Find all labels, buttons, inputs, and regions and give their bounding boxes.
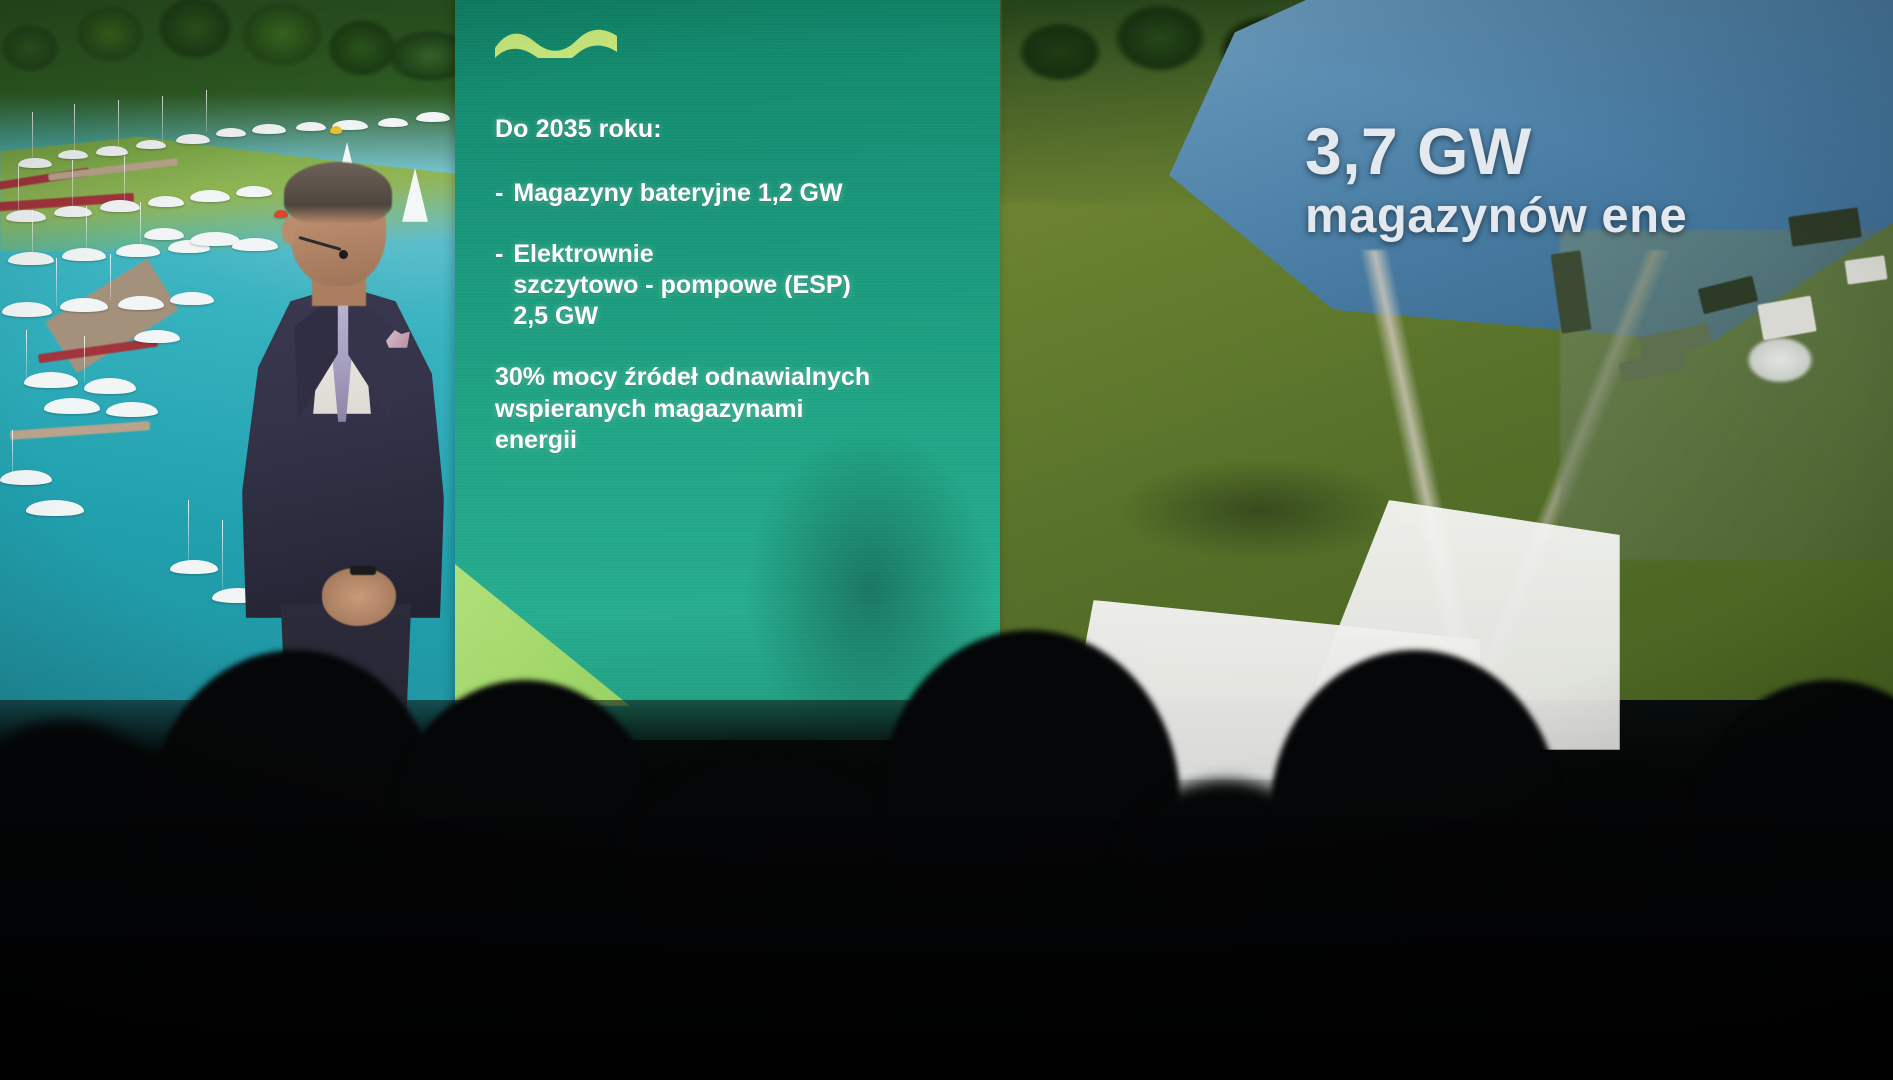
foreground-floor (0, 820, 1893, 1080)
stage-scene: Do 2035 roku: - Magazyny bateryjne 1,2 G… (0, 0, 1893, 1080)
microphone-capsule-icon (339, 250, 348, 259)
aerial-caption-label: magazynów ene (1305, 192, 1893, 241)
wave-accent-icon (493, 28, 619, 58)
bullet-item-2: - Elektrownie szczytowo - pompowe (ESP) … (495, 239, 965, 332)
aerial-caption-value: 3,7 GW (1305, 118, 1893, 184)
presenter-hair (284, 162, 392, 224)
bullet-dash: - (495, 178, 503, 209)
audience-silhouettes (0, 460, 1893, 1080)
slide-content: Do 2035 roku: - Magazyny bateryjne 1,2 G… (495, 115, 965, 482)
slide-heading: Do 2035 roku: (495, 115, 965, 144)
presenter-ear (282, 218, 296, 244)
aerial-caption: 3,7 GW magazynów ene (1305, 118, 1893, 241)
slide-note: 30% mocy źródeł odnawialnych wspieranych… (495, 362, 965, 457)
bullet-text: Elektrownie szczytowo - pompowe (ESP) 2,… (513, 239, 851, 332)
bullet-text: Magazyny bateryjne 1,2 GW (513, 178, 842, 209)
bullet-dash: - (495, 239, 503, 332)
bullet-item-1: - Magazyny bateryjne 1,2 GW (495, 178, 965, 209)
